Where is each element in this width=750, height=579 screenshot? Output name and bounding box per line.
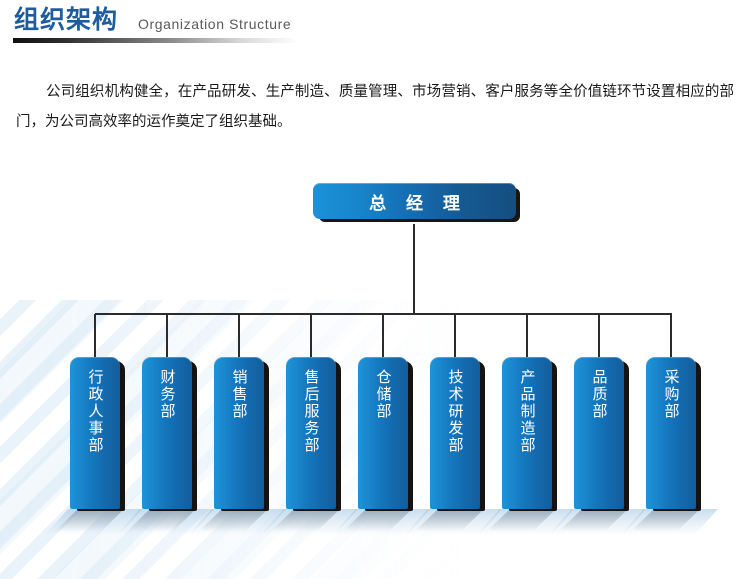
connector-trunk (413, 224, 415, 314)
title-underline (13, 38, 298, 43)
node-department[interactable]: 品质部 (574, 357, 624, 509)
node-department[interactable]: 财务部 (142, 357, 192, 509)
department-box[interactable]: 产品制造部 (502, 357, 552, 509)
department-label: 财务部 (157, 369, 178, 420)
connector-drop-2 (166, 314, 168, 358)
node-department[interactable]: 产品制造部 (502, 357, 552, 509)
node-department[interactable]: 技术研发部 (430, 357, 480, 509)
node-general-manager[interactable]: 总 经 理 (313, 183, 516, 219)
department-label: 售后服务部 (301, 369, 322, 454)
intro-paragraph: 公司组织机构健全，在产品研发、生产制造、质量管理、市场营销、客户服务等全价值链环… (16, 77, 734, 137)
connector-drop-8 (598, 314, 600, 358)
connector-drop-1 (94, 314, 96, 358)
node-department[interactable]: 采购部 (646, 357, 696, 509)
department-label: 技术研发部 (445, 369, 466, 454)
page-subtitle: Organization Structure (138, 14, 291, 34)
page-header: 组织架构 Organization Structure (0, 0, 750, 52)
department-box[interactable]: 销售部 (214, 357, 264, 509)
general-manager-box[interactable]: 总 经 理 (313, 183, 516, 219)
node-department[interactable]: 行政人事部 (70, 357, 120, 509)
department-box[interactable]: 行政人事部 (70, 357, 120, 509)
department-box[interactable]: 技术研发部 (430, 357, 480, 509)
connector-drop-3 (238, 314, 240, 358)
department-label: 产品制造部 (517, 369, 538, 454)
department-box[interactable]: 财务部 (142, 357, 192, 509)
connector-drop-6 (454, 314, 456, 358)
department-label: 仓储部 (373, 369, 394, 420)
department-box[interactable]: 仓储部 (358, 357, 408, 509)
connector-drop-5 (382, 314, 384, 358)
general-manager-label: 总 经 理 (362, 189, 467, 214)
node-department[interactable]: 售后服务部 (286, 357, 336, 509)
page-title: 组织架构 (14, 5, 118, 35)
node-department[interactable]: 销售部 (214, 357, 264, 509)
department-label: 品质部 (589, 369, 610, 420)
department-label: 销售部 (229, 369, 250, 420)
node-department[interactable]: 仓储部 (358, 357, 408, 509)
department-box[interactable]: 售后服务部 (286, 357, 336, 509)
connector-drop-7 (526, 314, 528, 358)
department-label: 行政人事部 (85, 369, 106, 454)
connector-drop-4 (310, 314, 312, 358)
connector-drop-9 (670, 314, 672, 358)
department-box[interactable]: 采购部 (646, 357, 696, 509)
department-label: 采购部 (661, 369, 682, 420)
department-box[interactable]: 品质部 (574, 357, 624, 509)
